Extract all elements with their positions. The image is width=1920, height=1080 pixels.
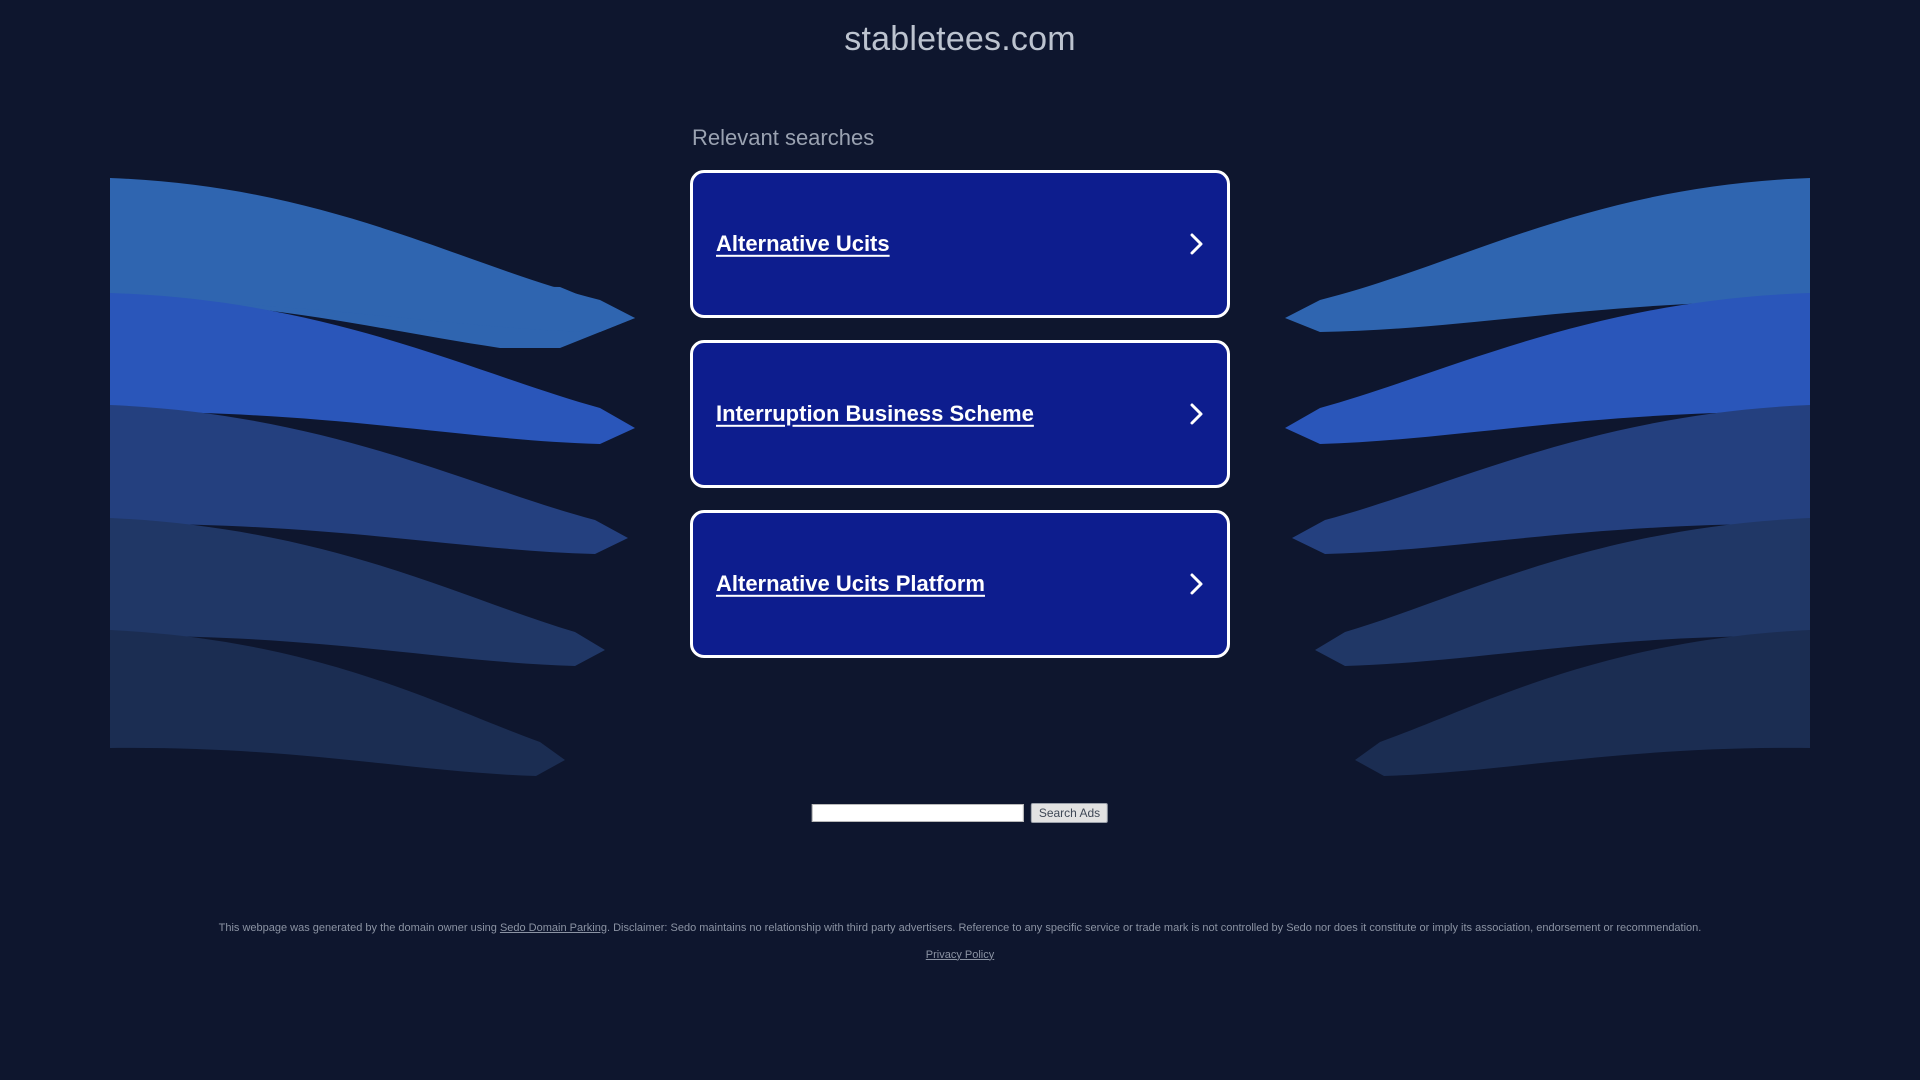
ad-card-label: Alternative Ucits Platform (716, 571, 985, 597)
privacy-policy-link[interactable]: Privacy Policy (926, 949, 994, 961)
relevant-searches-heading: Relevant searches (690, 125, 1230, 151)
sedo-domain-parking-link[interactable]: Sedo Domain Parking (500, 922, 607, 934)
disclaimer-text: This webpage was generated by the domain… (0, 920, 1920, 937)
ad-card-3[interactable]: Alternative Ucits Platform (690, 510, 1230, 658)
ad-card-2[interactable]: Interruption Business Scheme (690, 340, 1230, 488)
chevron-right-icon (1187, 571, 1207, 597)
search-ads-form: Search Ads (812, 803, 1108, 823)
disclaimer-suffix: . Disclaimer: Sedo maintains no relation… (607, 922, 1701, 934)
search-ads-button[interactable]: Search Ads (1031, 803, 1108, 823)
parked-domain-page: stabletees.com Relevant searches Alterna… (0, 0, 1920, 1080)
chevron-right-icon (1187, 231, 1207, 257)
chevron-right-icon (1187, 401, 1207, 427)
footer: This webpage was generated by the domain… (0, 920, 1920, 961)
ad-card-label: Alternative Ucits (716, 231, 890, 257)
disclaimer-prefix: This webpage was generated by the domain… (219, 922, 500, 934)
ad-card-label: Interruption Business Scheme (716, 401, 1034, 427)
page-title: stabletees.com (0, 20, 1920, 59)
relevant-searches-section: Relevant searches Alternative Ucits Inte… (690, 125, 1230, 680)
search-input[interactable] (812, 804, 1024, 822)
ad-card-1[interactable]: Alternative Ucits (690, 170, 1230, 318)
privacy-policy-row: Privacy Policy (0, 949, 1920, 961)
